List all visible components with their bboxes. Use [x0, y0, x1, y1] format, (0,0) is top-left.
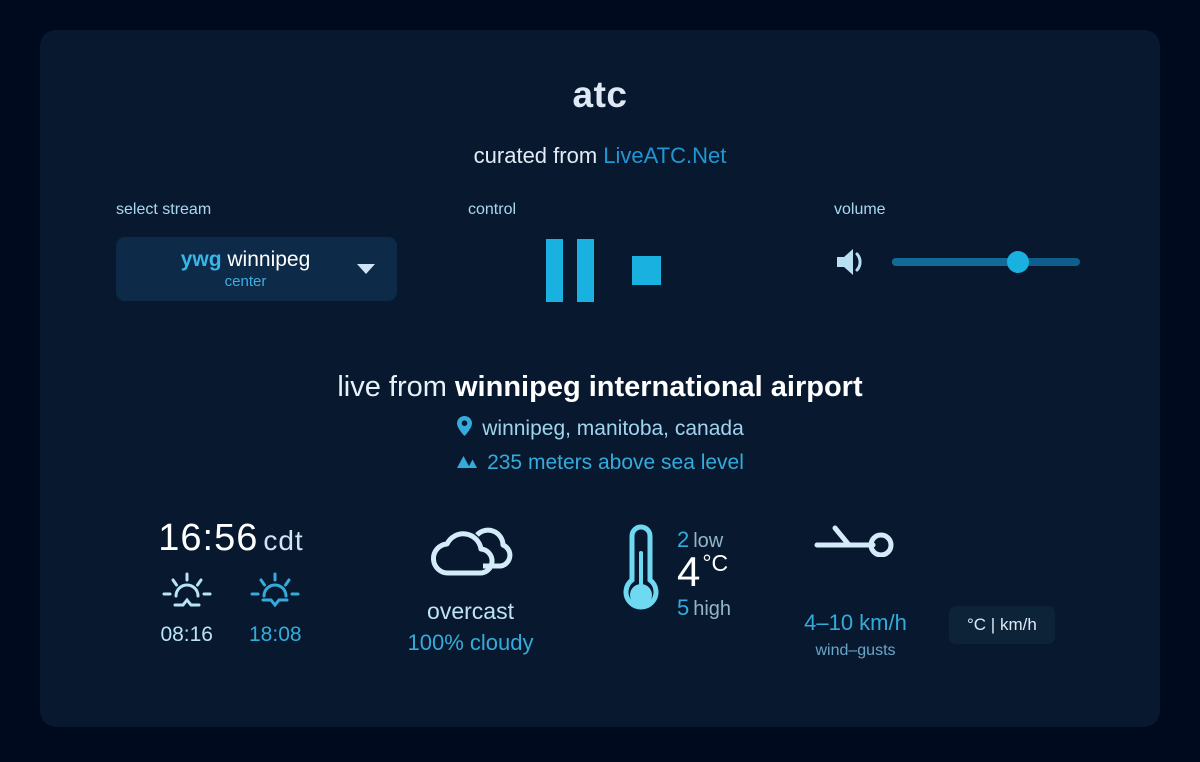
- subtitle-prefix: curated from: [474, 143, 604, 168]
- condition-text: overcast: [358, 598, 583, 625]
- station-elevation: 235 meters above sea level: [487, 451, 744, 475]
- local-time-value: 16:56: [158, 517, 258, 559]
- control-label: control: [468, 201, 661, 219]
- temp-high-row: 5high: [677, 597, 731, 619]
- station-location-row: winnipeg, manitoba, canada: [40, 415, 1160, 443]
- temp-unit: °C: [702, 550, 728, 576]
- station-location: winnipeg, manitoba, canada: [482, 417, 744, 441]
- wind-block: 4–10 km/h wind–gusts: [763, 523, 948, 660]
- local-time-block: 16:56cdt: [126, 517, 336, 647]
- sunset-block: 18:08: [249, 572, 302, 647]
- volume-slider[interactable]: [892, 258, 1080, 266]
- liveatc-link[interactable]: LiveATC.Net: [603, 143, 726, 168]
- volume-row: [834, 245, 1080, 279]
- chevron-down-icon: [357, 264, 375, 274]
- playback-block: control: [468, 201, 661, 302]
- controls-row: select stream ywg winnipeg center contro…: [40, 201, 1160, 311]
- wind-speed: 4–10 km/h: [763, 610, 948, 636]
- station-headline: live from winnipeg international airport: [40, 371, 1160, 404]
- live-from-prefix: live from: [337, 371, 455, 403]
- playback-buttons: [546, 239, 661, 302]
- map-pin-icon: [456, 415, 473, 443]
- volume-label: volume: [834, 201, 1080, 219]
- volume-slider-fill: [892, 258, 1018, 266]
- local-time: 16:56cdt: [126, 517, 336, 560]
- page-title: atc: [40, 74, 1160, 116]
- sunrise-time: 08:16: [160, 623, 213, 647]
- volume-slider-thumb[interactable]: [1007, 251, 1029, 273]
- timezone-label: cdt: [263, 525, 303, 556]
- mountain-icon: [456, 451, 478, 475]
- wind-barb-icon: [813, 544, 899, 561]
- subtitle: curated from LiveATC.Net: [40, 143, 1160, 169]
- stream-code: ywg: [181, 248, 222, 271]
- temp-current-row: 4°C: [677, 551, 731, 593]
- sunset-icon: [249, 599, 301, 616]
- airport-name: winnipeg international airport: [455, 371, 863, 403]
- temperature-block: 2low 4°C 5high: [575, 519, 775, 628]
- stop-icon[interactable]: [632, 256, 661, 285]
- sunrise-block: 08:16: [160, 572, 213, 647]
- stream-type: center: [116, 274, 375, 290]
- select-stream-label: select stream: [116, 201, 397, 219]
- station-elevation-row: 235 meters above sea level: [40, 451, 1160, 475]
- stream-select[interactable]: ywg winnipeg center: [116, 237, 397, 301]
- station-info: live from winnipeg international airport…: [40, 371, 1160, 475]
- temp-high-label: high: [693, 598, 731, 620]
- sunset-time: 18:08: [249, 623, 302, 647]
- condition-block: overcast 100% cloudy: [358, 521, 583, 656]
- pause-icon[interactable]: [546, 239, 594, 302]
- units-badge[interactable]: °C | km/h: [949, 606, 1055, 644]
- sunrise-icon: [161, 599, 213, 616]
- cloud-icon: [419, 570, 523, 587]
- weather-row: 16:56cdt: [40, 517, 1160, 677]
- stream-select-primary: ywg winnipeg: [116, 249, 375, 271]
- cloud-cover-text: 100% cloudy: [358, 630, 583, 656]
- wind-label: wind–gusts: [763, 642, 948, 660]
- temp-high-value: 5: [677, 595, 689, 620]
- sun-times: 08:16: [126, 572, 336, 647]
- temperature-values: 2low 4°C 5high: [677, 529, 731, 619]
- speaker-icon[interactable]: [834, 245, 870, 279]
- thermometer-icon: [619, 519, 663, 628]
- stream-city: winnipeg: [227, 248, 310, 271]
- stream-select-text: ywg winnipeg center: [116, 249, 397, 290]
- stream-block: select stream ywg winnipeg center: [116, 201, 397, 301]
- temp-current-value: 4: [677, 548, 700, 595]
- volume-block: volume: [834, 201, 1080, 279]
- atc-card: atc curated from LiveATC.Net select stre…: [40, 30, 1160, 727]
